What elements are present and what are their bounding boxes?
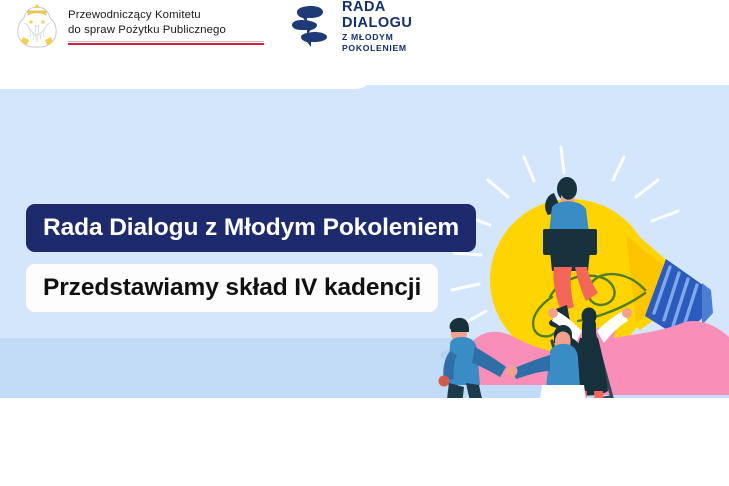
government-logo: Przewodniczący Komitetu do spraw Pożytku…	[14, 1, 264, 53]
speech-bubbles-mark	[291, 3, 335, 51]
council-line4: POKOLENIEM	[342, 43, 412, 54]
polish-eagle-emblem	[14, 1, 60, 53]
promotional-banner: Przewodniczący Komitetu do spraw Pożytku…	[0, 0, 729, 486]
logo-panel: Przewodniczący Komitetu do spraw Pożytku…	[0, 0, 372, 89]
council-logo: RADA DIALOGU Z MŁODYM POKOLENIEM	[291, 0, 412, 54]
headline-secondary-pill: Przedstawiamy skład IV kadencji	[26, 264, 438, 312]
council-line1: RADA	[342, 0, 412, 15]
headline-primary-text: Rada Dialogu z Młodym Pokoleniem	[43, 214, 459, 242]
gov-rule	[68, 41, 264, 45]
gov-title-line2: do spraw Pożytku Publicznego	[68, 23, 264, 38]
headline-primary-pill: Rada Dialogu z Młodym Pokoleniem	[26, 204, 476, 252]
council-line2: DIALOGU	[342, 15, 412, 31]
gov-title-line1: Przewodniczący Komitetu	[68, 8, 264, 23]
headline-secondary-text: Przedstawiamy skład IV kadencji	[43, 274, 421, 302]
council-line3: Z MŁODYM	[342, 32, 412, 43]
